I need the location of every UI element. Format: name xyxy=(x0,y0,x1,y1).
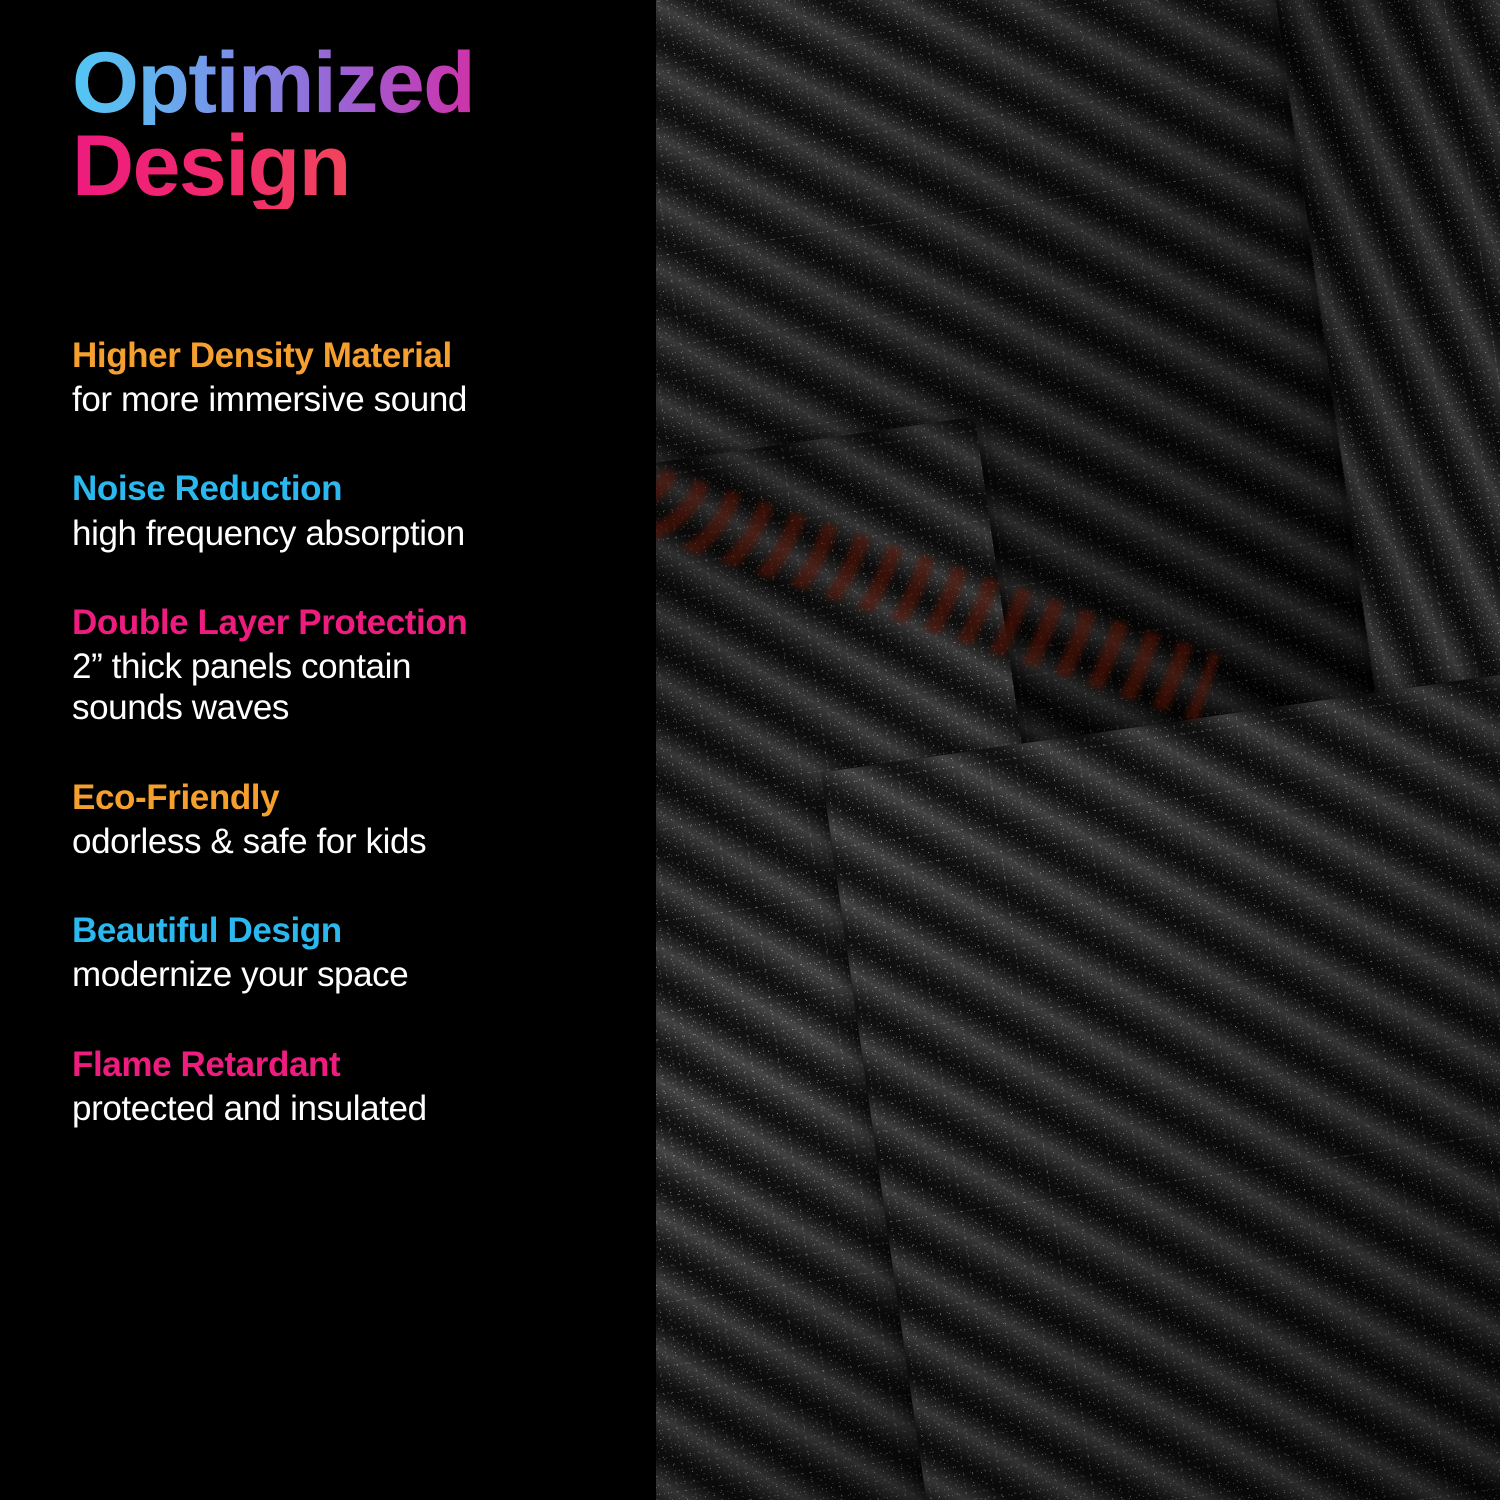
feature-item-flame-retardant: Flame Retardant protected and insulated xyxy=(72,1045,642,1129)
feature-description: protected and insulated xyxy=(72,1088,642,1129)
feature-description: high frequency absorption xyxy=(72,513,642,554)
feature-description: odorless & safe for kids xyxy=(72,821,642,862)
text-panel: Optimized Design Higher Density Material… xyxy=(0,0,653,1500)
product-feature-graphic: Optimized Design Higher Density Material… xyxy=(0,0,1500,1500)
feature-title: Noise Reduction xyxy=(72,469,642,508)
feature-item-eco-friendly: Eco-Friendly odorless & safe for kids xyxy=(72,778,642,862)
feature-title: Double Layer Protection xyxy=(72,603,642,642)
headline-line-2: Design xyxy=(72,125,632,208)
feature-title: Higher Density Material xyxy=(72,336,642,375)
feature-title: Eco-Friendly xyxy=(72,778,642,817)
feature-description: modernize your space xyxy=(72,954,642,995)
feature-description: for more immersive sound xyxy=(72,379,642,420)
feature-item-noise-reduction: Noise Reduction high frequency absorptio… xyxy=(72,469,642,553)
product-photo-acoustic-foam-panels xyxy=(653,0,1500,1500)
feature-description: 2” thick panels containsounds waves xyxy=(72,646,642,729)
feature-item-higher-density-material: Higher Density Material for more immersi… xyxy=(72,336,642,420)
headline-line-1: Optimized xyxy=(72,42,632,125)
feature-title: Beautiful Design xyxy=(72,911,642,950)
feature-item-double-layer-protection: Double Layer Protection 2” thick panels … xyxy=(72,603,642,729)
page-title: Optimized Design xyxy=(72,42,632,209)
feature-item-beautiful-design: Beautiful Design modernize your space xyxy=(72,911,642,995)
photo-left-seam xyxy=(653,0,656,1500)
feature-list: Higher Density Material for more immersi… xyxy=(72,336,642,1129)
feature-title: Flame Retardant xyxy=(72,1045,642,1084)
